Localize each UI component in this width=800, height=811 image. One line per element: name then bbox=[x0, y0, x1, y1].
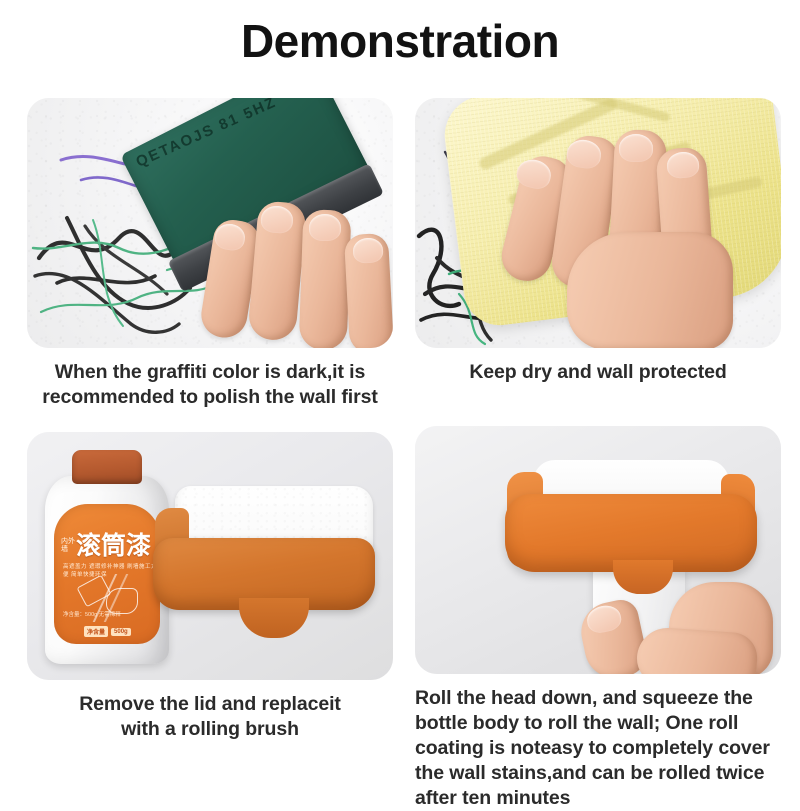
demo-step-1: QETAOJS 81 5HZ When the graffiti color i… bbox=[27, 98, 393, 410]
caption-line: When the graffiti color is dark,it is bbox=[27, 360, 393, 385]
caption-line: the wall stains,and can be rolled twice bbox=[415, 761, 781, 786]
caption-line: after ten minutes bbox=[415, 786, 781, 811]
demo-step-4: Roll the head down, and squeeze the bott… bbox=[415, 426, 781, 811]
photo-wiping-cloth bbox=[415, 98, 781, 348]
step-4-caption: Roll the head down, and squeeze the bott… bbox=[415, 686, 781, 811]
step-3-caption: Remove the lid and replaceit with a roll… bbox=[27, 692, 393, 742]
photo-rolling-wall bbox=[415, 426, 781, 674]
demo-step-2: Keep dry and wall protected bbox=[415, 98, 781, 385]
hand-holding-sponge bbox=[203, 194, 393, 348]
caption-line: recommended to polish the wall first bbox=[27, 385, 393, 410]
bottle-cap bbox=[72, 450, 142, 484]
roller-stem bbox=[239, 598, 309, 638]
photo-sanding-wall: QETAOJS 81 5HZ bbox=[27, 98, 393, 348]
caption-line: bottle body to roll the wall; One roll bbox=[415, 711, 781, 736]
label-footnote: 净含量：500g 无需稀释 bbox=[63, 611, 121, 620]
hand-wiping bbox=[511, 122, 761, 346]
photo-bottle-and-roller: 内外墙 滚筒漆 高遮盖力 遮瑕修补神器 刷墙施工方便 简单快捷环保 净含量：50… bbox=[27, 432, 393, 680]
demo-step-3: 内外墙 滚筒漆 高遮盖力 遮瑕修补神器 刷墙施工方便 简单快捷环保 净含量：50… bbox=[27, 432, 393, 742]
caption-line: Keep dry and wall protected bbox=[415, 360, 781, 385]
label-subtitle: 内外墙 bbox=[61, 538, 75, 553]
page-title: Demonstration bbox=[0, 16, 800, 67]
weight-tag: 净含量 bbox=[84, 626, 108, 637]
step-1-caption: When the graffiti color is dark,it is re… bbox=[27, 360, 393, 410]
caption-line: with a rolling brush bbox=[27, 717, 393, 742]
bottle-label: 内外墙 滚筒漆 高遮盖力 遮瑕修补神器 刷墙施工方便 简单快捷环保 净含量：50… bbox=[54, 504, 160, 644]
step-2-caption: Keep dry and wall protected bbox=[415, 360, 781, 385]
roller-brush-head bbox=[153, 486, 375, 644]
paint-bottle: 内外墙 滚筒漆 高遮盖力 遮瑕修补神器 刷墙施工方便 简单快捷环保 净含量：50… bbox=[45, 450, 169, 664]
weight-value: 500g bbox=[111, 628, 131, 636]
label-title: 滚筒漆 bbox=[76, 534, 151, 559]
caption-line: coating is noteasy to completely cover bbox=[415, 736, 781, 761]
hand-icon bbox=[106, 588, 138, 614]
weight-badge: 净含量 500g bbox=[84, 626, 131, 637]
caption-line: Roll the head down, and squeeze the bbox=[415, 686, 781, 711]
hand-squeezing-bottle bbox=[583, 576, 773, 674]
caption-line: Remove the lid and replaceit bbox=[27, 692, 393, 717]
